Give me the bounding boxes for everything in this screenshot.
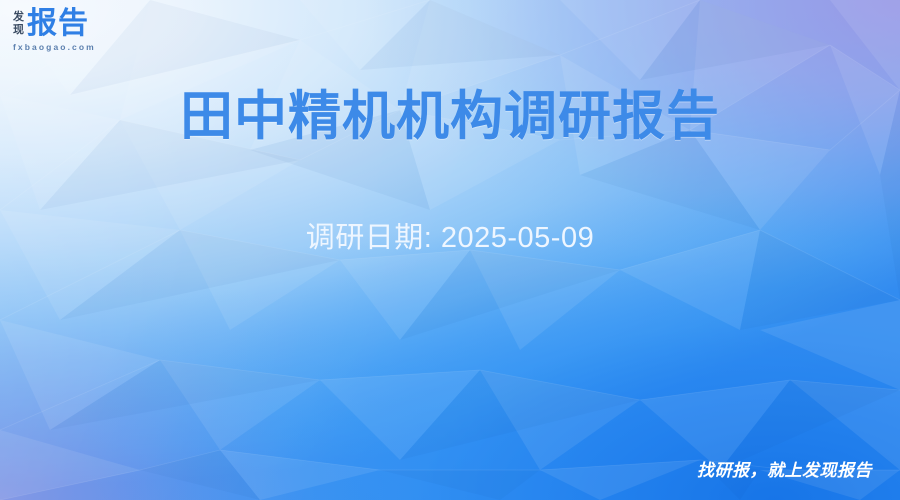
page-title: 田中精机机构调研报告	[0, 84, 900, 150]
logo-character-fa: 发	[13, 11, 24, 24]
brand-slogan: 找研报，就上发现报告	[697, 460, 872, 482]
logo-main-text: 报告	[27, 9, 89, 39]
logo-wordmark: 发 现 报告	[13, 9, 89, 39]
survey-date-subtitle: 调研日期: 2025-05-09	[0, 150, 900, 258]
logo-stacked-characters: 发 现	[13, 11, 24, 39]
fxbaogao-logo[interactable]: 发 现 报告 fxbaogao.com	[13, 9, 96, 52]
logo-url-text: fxbaogao.com	[13, 42, 96, 52]
cover-text-block: 田中精机机构调研报告 调研日期: 2025-05-09	[0, 84, 900, 258]
report-cover-slide: 发 现 报告 fxbaogao.com 田中精机机构调研报告 调研日期: 202…	[0, 0, 900, 500]
logo-character-xian: 现	[13, 24, 24, 37]
